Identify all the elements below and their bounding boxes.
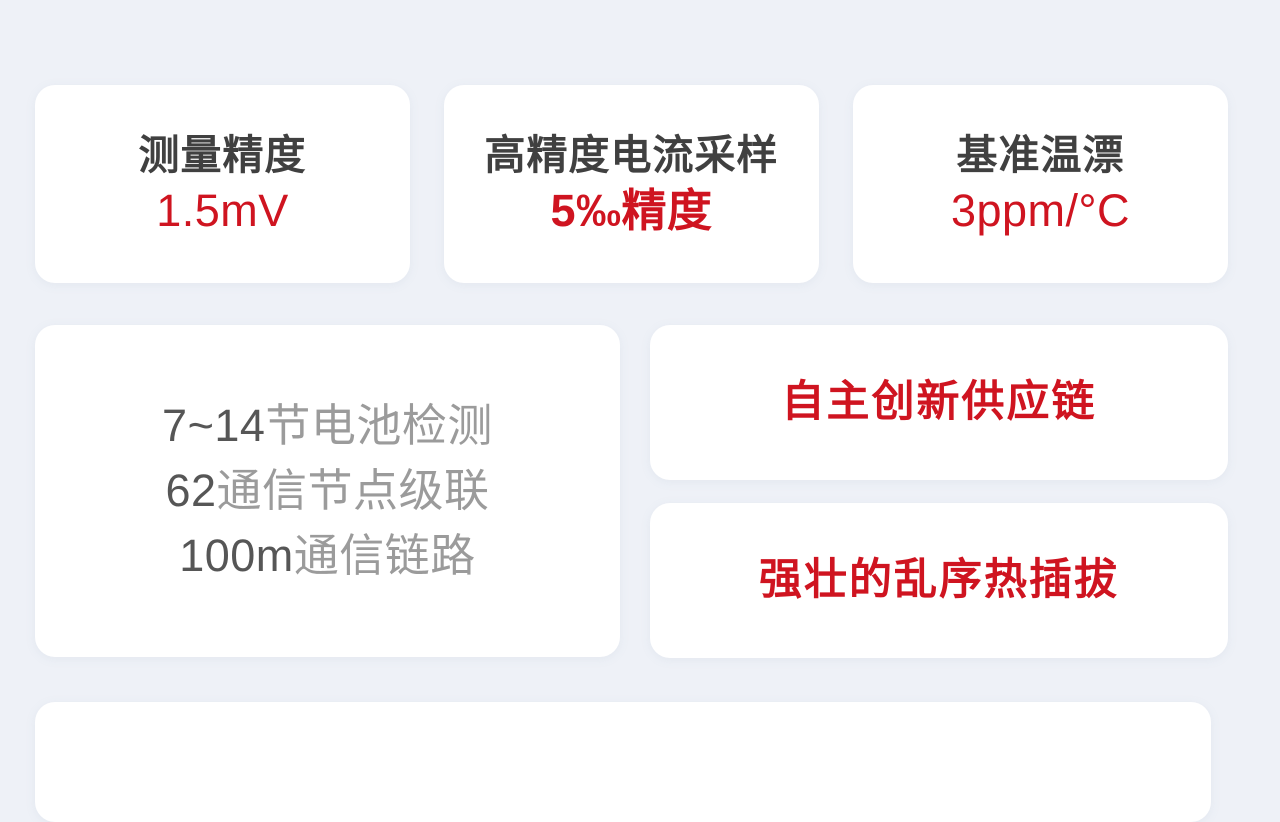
spec-line-label: 通信链路	[294, 530, 476, 581]
stat-card-title: 基准温漂	[957, 132, 1125, 179]
bottom-card-partial[interactable]	[35, 702, 1211, 822]
stat-card-title: 测量精度	[139, 132, 307, 179]
highlight-card-text: 自主创新供应链	[782, 378, 1097, 427]
highlight-card-hot-swap[interactable]: 强壮的乱序热插拔	[650, 503, 1228, 658]
stat-card-value: 5‰精度	[550, 185, 712, 237]
stat-card-value: 1.5mV	[156, 185, 289, 237]
stat-card-measurement-accuracy[interactable]: 测量精度 1.5mV	[35, 85, 410, 283]
highlight-card-text: 强壮的乱序热插拔	[759, 556, 1119, 605]
spec-card-battery-detection[interactable]: 7~14节电池检测 62通信节点级联 100m通信链路	[35, 325, 620, 657]
feature-highlights-page: 测量精度 1.5mV 高精度电流采样 5‰精度 基准温漂 3ppm/°C 7~1…	[0, 0, 1280, 720]
stat-card-title: 高精度电流采样	[485, 132, 779, 179]
stat-card-value: 3ppm/°C	[951, 185, 1130, 237]
stat-card-current-sampling[interactable]: 高精度电流采样 5‰精度	[444, 85, 819, 283]
spec-line-label: 节电池检测	[265, 400, 493, 451]
spec-line-number: 100m	[179, 530, 294, 581]
spec-line: 62通信节点级联	[162, 467, 493, 515]
spec-line: 7~14节电池检测	[162, 402, 493, 450]
highlight-card-supply-chain[interactable]: 自主创新供应链	[650, 325, 1228, 480]
spec-line-list: 7~14节电池检测 62通信节点级联 100m通信链路	[162, 402, 493, 579]
spec-line-number: 62	[165, 465, 216, 516]
spec-line-label: 通信节点级联	[217, 465, 490, 516]
spec-line: 100m通信链路	[162, 532, 493, 580]
stat-card-reference-temperature-drift[interactable]: 基准温漂 3ppm/°C	[853, 85, 1228, 283]
spec-line-number: 7~14	[162, 400, 265, 451]
